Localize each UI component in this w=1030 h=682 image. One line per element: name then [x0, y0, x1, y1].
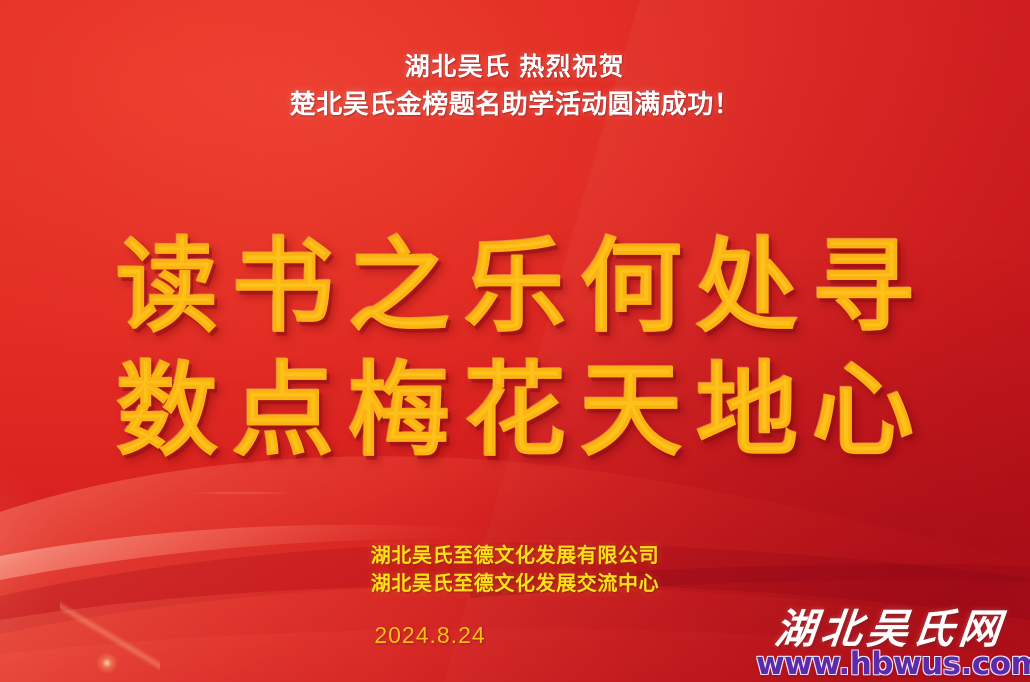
light-flare-decoration [96, 652, 118, 674]
organization-line-2: 湖北吴氏至德文化发展交流中心 [0, 570, 1030, 598]
event-date: 2024.8.24 [374, 622, 485, 648]
couplet-block: 读书之乐何处寻 数点梅花天地心 [0, 228, 1030, 471]
organization-line-1: 湖北吴氏至德文化发展有限公司 [0, 542, 1030, 570]
poster-banner: 湖北吴氏 热烈祝贺 楚北吴氏金榜题名助学活动圆满成功！ 读书之乐何处寻 数点梅花… [0, 0, 1030, 682]
header-block: 湖北吴氏 热烈祝贺 楚北吴氏金榜题名助学活动圆满成功！ [0, 52, 1030, 120]
decorative-divider [192, 492, 290, 494]
couplet-line-2: 数点梅花天地心 [0, 352, 1030, 470]
watermark-site-url: www.hbwus.com [756, 649, 1024, 680]
site-watermark: 湖北吴氏网 www.hbwus.com [756, 608, 1024, 680]
header-congrats-line2: 楚北吴氏金榜题名助学活动圆满成功！ [0, 89, 1030, 121]
header-congrats-line1: 湖北吴氏 热烈祝贺 [0, 52, 1030, 83]
organization-block: 湖北吴氏至德文化发展有限公司 湖北吴氏至德文化发展交流中心 [0, 542, 1030, 599]
couplet-line-1: 读书之乐何处寻 [0, 228, 1030, 346]
watermark-site-name: 湖北吴氏网 [754, 608, 1027, 651]
